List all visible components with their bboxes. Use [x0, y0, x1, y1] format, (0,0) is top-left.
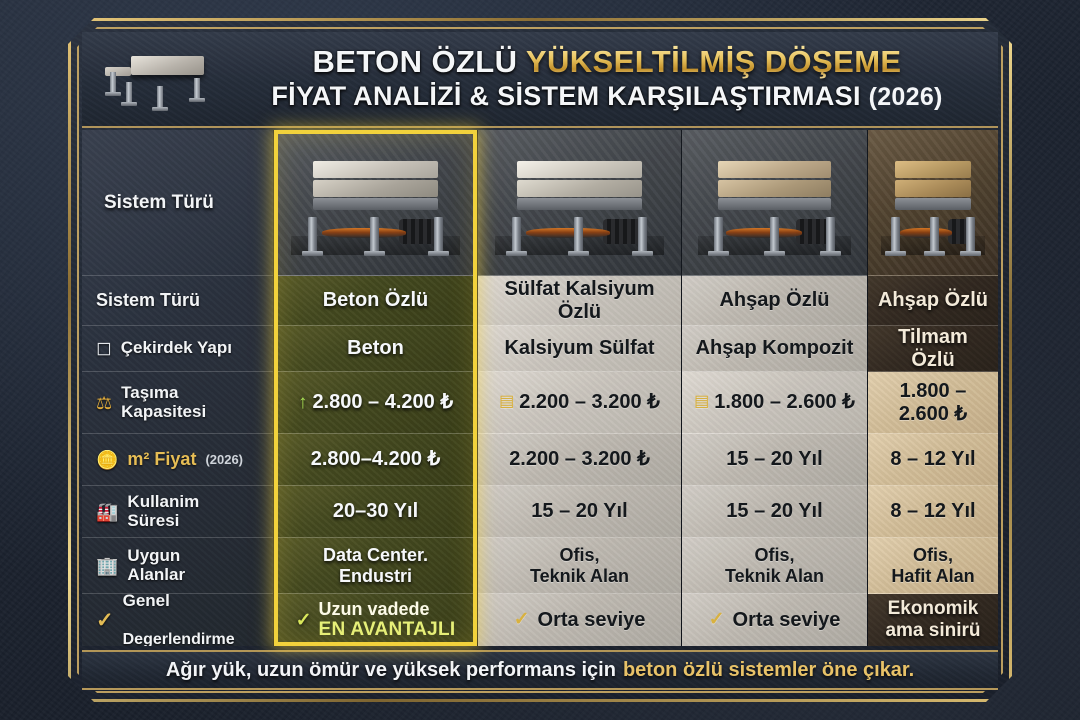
check-icon: ✓ [296, 611, 312, 630]
thumbnail-beton-ozlu [274, 130, 477, 276]
thumbnail-sulfat-kalsiyum [478, 130, 681, 276]
row-label-system-type: Sistem Türü [82, 276, 273, 326]
cell-areas-c-text: Ofis, Teknik Alan [725, 545, 824, 586]
cell-core-a: Beton [274, 326, 477, 372]
cell-evaluation-a-main: EN AVANTAJLI [318, 619, 455, 641]
cell-capacity-a-text: 2.800 – 4.200 ₺ [312, 391, 453, 414]
footer-banner: Ağır yük, uzun ömür ve yüksek performans… [82, 650, 998, 690]
cell-price-d-text: 8 – 12 Yıl [890, 448, 975, 471]
cell-price-c: 15 – 20 Yıl [682, 434, 867, 486]
raised-floor-chipboard-icon [881, 150, 985, 254]
cell-capacity-b: ▤ 2.200 – 3.200 ₺ [478, 372, 681, 434]
row-label-evaluation: ✓ Genel Degerlendirme [82, 594, 273, 646]
row-label-evaluation-text: Genel [123, 594, 235, 611]
cell-evaluation-d-main: Ekonomik ama sinirü [885, 598, 980, 641]
row-label-core-structure-text: Çekirdek Yapı [121, 339, 232, 358]
building-icon: 🏢 [96, 557, 118, 575]
cell-areas-a-text: Data Center. Endustri [323, 545, 428, 586]
label-column: Sistem Türü Sistem Türü ◻ Çekirdek Yapı … [82, 130, 274, 646]
cell-areas-d: Ofis, Hafit Alan [868, 538, 998, 594]
cell-system-type-d-text: Ahşap Özlü [878, 289, 988, 312]
row-label-lifetime: 🏭 Kullanim Süresi [82, 486, 273, 538]
footer-text-white: Ağır yük, uzun ömür ve yüksek performans… [166, 659, 616, 682]
cell-evaluation-c: ✓ Orta seviye [682, 594, 867, 646]
cell-lifetime-a: 20–30 Yıl [274, 486, 477, 538]
cell-system-type-b-text: Sülfat Kalsiyum Özlü [504, 278, 654, 324]
factory-icon: 🏭 [96, 503, 118, 521]
cell-system-type-c-text: Ahşap Özlü [719, 289, 829, 312]
row-label-evaluation-sub: Degerlendirme [123, 631, 235, 646]
year-label: (2026) [869, 83, 943, 111]
cell-system-type-a: Beton Özlü [274, 276, 477, 326]
column-ahsap-kompozit[interactable]: Ahşap Özlü Ahşap Kompozit ▤ 1.800 – 2.60… [682, 130, 868, 646]
title-white-part: BETON ÖZLÜ [313, 44, 526, 79]
scale-icon: ⚖ [96, 394, 112, 412]
cell-lifetime-d: 8 – 12 Yıl [868, 486, 998, 538]
title-gold-part: YÜKSELTİLMİŞ DÖŞEME [526, 44, 902, 79]
cell-evaluation-b: ✓ Orta seviye [478, 594, 681, 646]
label-thumb-header-text: Sistem Türü [104, 192, 214, 214]
row-label-price-year: (2026) [205, 452, 243, 467]
cell-capacity-d-text: 1.800 – 2.600 ₺ [874, 380, 992, 426]
title-line-2: FİYAT ANALİZİ & SİSTEM KARŞILAŞTIRMASI (… [240, 80, 974, 112]
raised-floor-panel-icon [90, 37, 240, 121]
header-titles: BETON ÖZLÜ YÜKSELTİLMİŞ DÖŞEME FİYAT ANA… [240, 45, 998, 112]
row-label-lifetime-text: Kullanim Süresi [127, 493, 199, 530]
up-arrow-icon: ↑ [298, 393, 308, 412]
cell-areas-b-text: Ofis, Teknik Alan [530, 545, 629, 586]
thumbnail-ahsap-tilmam [868, 130, 998, 276]
cell-evaluation-b-main: Orta seviye [538, 609, 646, 632]
cell-core-c: Ahşap Kompozit [682, 326, 867, 372]
cell-lifetime-b: 15 – 20 Yıl [478, 486, 681, 538]
check-icon: ✓ [709, 610, 725, 629]
cell-core-b: Kalsiyum Sülfat [478, 326, 681, 372]
cell-lifetime-a-text: 20–30 Yıl [333, 500, 418, 523]
cell-capacity-c: ▤ 1.800 – 2.600 ₺ [682, 372, 867, 434]
row-label-price: 🪙 m² Fiyat (2026) [82, 434, 273, 486]
cell-system-type-a-text: Beton Özlü [323, 289, 429, 312]
cell-lifetime-b-text: 15 – 20 Yıl [531, 500, 627, 523]
cell-price-c-text: 15 – 20 Yıl [726, 448, 822, 471]
cell-areas-c: Ofis, Teknik Alan [682, 538, 867, 594]
cell-evaluation-c-main: Orta seviye [733, 609, 841, 632]
cell-system-type-c: Ahşap Özlü [682, 276, 867, 326]
cell-price-a: 2.800–4.200 ₺ [274, 434, 477, 486]
cell-system-type-d: Ahşap Özlü [868, 276, 998, 326]
cube-icon: ◻ [96, 339, 112, 358]
raised-floor-wood-icon [698, 150, 850, 254]
row-label-system-type-text: Sistem Türü [96, 291, 200, 311]
cell-system-type-b: Sülfat Kalsiyum Özlü [478, 276, 681, 326]
row-label-areas-text: Uygun Alanlar [127, 547, 185, 584]
cell-lifetime-d-text: 8 – 12 Yıl [890, 500, 975, 523]
check-icon: ✓ [514, 610, 530, 629]
footer-text-gold: beton özlü sistemler öne çıkar. [623, 659, 914, 682]
cell-evaluation-d: Ekonomik ama sinirü [868, 594, 998, 646]
poster-frame: BETON ÖZLÜ YÜKSELTİLMİŞ DÖŞEME FİYAT ANA… [68, 18, 1012, 702]
comparison-table: Sistem Türü Sistem Türü ◻ Çekirdek Yapı … [82, 130, 998, 646]
row-label-capacity: ⚖ Taşıma Kapasitesi [82, 372, 273, 434]
column-beton-ozlu[interactable]: Beton Özlü Beton ↑ 2.800 – 4.200 ₺ 2.800… [274, 130, 478, 646]
cell-price-b: 2.200 – 3.200 ₺ [478, 434, 681, 486]
cell-evaluation-a-top: Uzun vadede [318, 599, 455, 620]
cell-core-b-text: Kalsiyum Sülfat [504, 337, 654, 360]
cell-areas-a: Data Center. Endustri [274, 538, 477, 594]
cell-evaluation-a: ✓ Uzun vadede EN AVANTAJLI [274, 594, 477, 646]
cell-capacity-a: ↑ 2.800 – 4.200 ₺ [274, 372, 477, 434]
column-ahsap-tilmam[interactable]: Ahşap Özlü Tilmam Özlü 1.800 – 2.600 ₺ 8… [868, 130, 998, 646]
label-thumb-header: Sistem Türü [82, 130, 273, 276]
row-label-price-text: m² Fiyat [127, 449, 196, 470]
cell-core-a-text: Beton [347, 337, 404, 360]
cell-price-a-text: 2.800–4.200 ₺ [311, 448, 441, 471]
coin-stack-icon: ▤ [499, 394, 514, 410]
row-label-areas: 🏢 Uygun Alanlar [82, 538, 273, 594]
check-icon: ✓ [96, 610, 114, 631]
cell-lifetime-c-text: 15 – 20 Yıl [726, 500, 822, 523]
title-line-1: BETON ÖZLÜ YÜKSELTİLMİŞ DÖŞEME [240, 45, 974, 80]
column-sulfat-kalsiyum[interactable]: Sülfat Kalsiyum Özlü Kalsiyum Sülfat ▤ 2… [478, 130, 682, 646]
cell-core-d-text: Tilmam Özlü [874, 326, 992, 371]
cell-lifetime-c: 15 – 20 Yıl [682, 486, 867, 538]
cell-capacity-b-text: 2.200 – 3.200 ₺ [519, 391, 660, 414]
row-label-capacity-text: Taşıma Kapasitesi [121, 384, 206, 421]
cell-areas-d-text: Ofis, Hafit Alan [891, 545, 974, 586]
cell-price-b-text: 2.200 – 3.200 ₺ [509, 448, 650, 471]
cell-core-d: Tilmam Özlü [868, 326, 998, 372]
raised-floor-concrete-icon [291, 150, 459, 254]
coin-stack-icon: ▤ [694, 394, 709, 410]
row-label-core-structure: ◻ Çekirdek Yapı [82, 326, 273, 372]
subtitle-text: FİYAT ANALİZİ & SİSTEM KARŞILAŞTIRMASI [271, 81, 860, 111]
coins-icon: 🪙 [96, 451, 118, 469]
cell-price-d: 8 – 12 Yıl [868, 434, 998, 486]
cell-capacity-d: 1.800 – 2.600 ₺ [868, 372, 998, 434]
raised-floor-light-icon [495, 150, 663, 254]
cell-areas-b: Ofis, Teknik Alan [478, 538, 681, 594]
header-banner: BETON ÖZLÜ YÜKSELTİLMİŞ DÖŞEME FİYAT ANA… [82, 32, 998, 128]
cell-capacity-c-text: 1.800 – 2.600 ₺ [714, 391, 855, 414]
thumbnail-ahsap-kompozit [682, 130, 867, 276]
cell-core-c-text: Ahşap Kompozit [696, 337, 854, 360]
